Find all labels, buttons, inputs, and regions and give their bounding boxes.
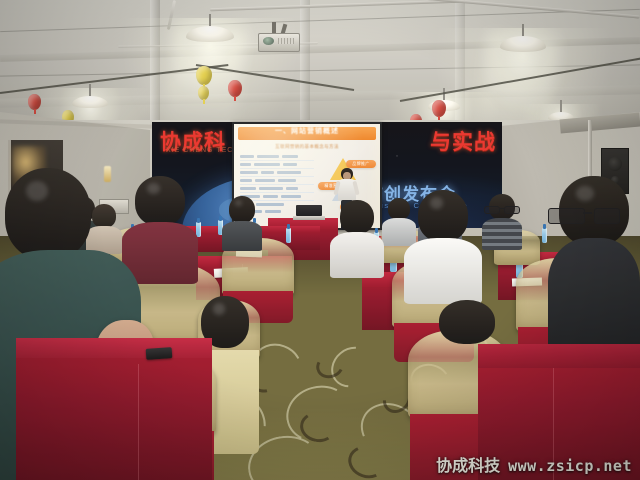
slide-text-line bbox=[261, 171, 274, 174]
torso bbox=[222, 221, 262, 251]
slide-text-line bbox=[240, 179, 252, 182]
projector-lens bbox=[263, 37, 274, 45]
head bbox=[418, 190, 468, 242]
ceiling-projector bbox=[258, 22, 302, 52]
mobile-phone bbox=[146, 347, 173, 360]
slide-text-line bbox=[259, 187, 283, 190]
speaker-cone bbox=[608, 157, 622, 171]
head bbox=[439, 300, 495, 344]
slide-text-line bbox=[240, 163, 251, 166]
slide-text-line bbox=[282, 155, 298, 158]
slide-text-line bbox=[254, 163, 280, 166]
balloon bbox=[432, 100, 446, 117]
ceiling-beam-vertical bbox=[150, 0, 160, 128]
lamp-shade bbox=[72, 96, 108, 108]
laptop-base bbox=[293, 216, 324, 220]
slide-text-line bbox=[240, 187, 256, 190]
watermark-brand: 协成科技 bbox=[436, 452, 500, 476]
slide-text-line bbox=[286, 187, 298, 190]
slide-text-line bbox=[283, 163, 297, 166]
laptop bbox=[296, 205, 322, 223]
torso bbox=[330, 232, 384, 278]
lamp-shade bbox=[500, 36, 546, 52]
table-top bbox=[16, 338, 212, 358]
slide-badge: 品牌推广 bbox=[346, 160, 376, 168]
slide-text-line bbox=[281, 195, 301, 198]
audience-member bbox=[482, 194, 522, 248]
slide-text-line bbox=[240, 155, 254, 158]
slide-text-line bbox=[263, 195, 278, 198]
watermark: 协成科技 www.zsicp.net bbox=[436, 452, 632, 476]
watermark-url: www.zsicp.net bbox=[508, 457, 632, 475]
slide-text-line bbox=[257, 155, 279, 158]
ceiling-pipe bbox=[210, 0, 460, 11]
tablecloth-fold bbox=[138, 364, 139, 480]
ceiling-beam-vertical bbox=[300, 0, 310, 128]
table-top bbox=[478, 344, 640, 368]
water-bottle bbox=[542, 228, 547, 243]
hair-highlight bbox=[576, 186, 594, 201]
head bbox=[340, 200, 374, 234]
slide-text-line bbox=[278, 179, 296, 182]
conference-room-photo: 协成科 XIE CHENG TECHNOLOGY 与实战 下首创发布会 IT I… bbox=[0, 0, 640, 480]
slide-table-row bbox=[240, 177, 314, 185]
slide-text-line bbox=[240, 171, 258, 174]
audience-member bbox=[404, 190, 482, 300]
foreground-table bbox=[16, 338, 212, 480]
slide-subtitle: 互联网营销的基本概念与方法 bbox=[275, 144, 339, 150]
slide-text-line bbox=[265, 210, 281, 213]
lamp-shade bbox=[186, 26, 234, 42]
head bbox=[559, 176, 629, 246]
slide-title: 一、网站营销概述 bbox=[275, 126, 339, 136]
audience-member bbox=[222, 196, 262, 248]
balloon bbox=[198, 86, 209, 100]
torso bbox=[404, 238, 482, 304]
slide-table-row bbox=[240, 161, 314, 169]
torso bbox=[482, 218, 522, 250]
head bbox=[229, 196, 255, 223]
slide-text-line bbox=[277, 171, 301, 174]
ceiling-panel-line bbox=[0, 9, 640, 32]
head bbox=[5, 168, 91, 260]
head bbox=[489, 194, 515, 220]
backdrop-title-right: 与实战 bbox=[430, 126, 496, 156]
slide-table-row bbox=[240, 169, 314, 177]
audience-member bbox=[330, 200, 384, 274]
hair-highlight bbox=[213, 303, 225, 314]
hair-highlight bbox=[26, 181, 48, 201]
balloon bbox=[28, 94, 41, 110]
balloon bbox=[228, 80, 242, 97]
balloon bbox=[196, 66, 212, 85]
slide-text-line bbox=[255, 179, 275, 182]
laptop-lid bbox=[296, 205, 322, 216]
hair-highlight bbox=[430, 197, 443, 208]
hair-highlight bbox=[147, 183, 160, 194]
slide-table-row bbox=[240, 185, 314, 193]
hair-highlight bbox=[235, 200, 242, 206]
projector-vent bbox=[278, 38, 294, 44]
slide-table-row bbox=[240, 153, 314, 161]
